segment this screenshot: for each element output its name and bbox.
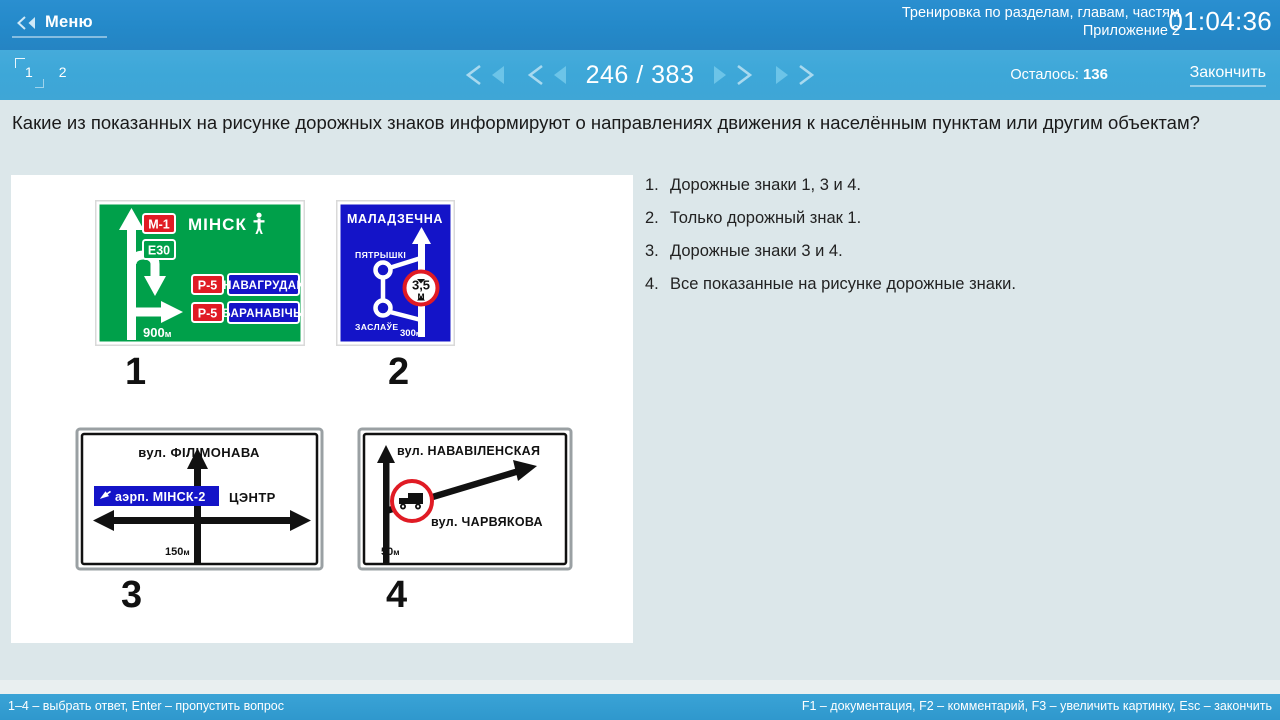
- chevron-left-icon[interactable]: [524, 63, 570, 87]
- session-title-line1: Тренировка по разделам, главам, частям: [902, 4, 1180, 22]
- remaining-label: Осталось:: [1010, 67, 1079, 83]
- svg-text:Е30: Е30: [148, 244, 170, 258]
- remaining-counter: Осталось: 136: [1010, 66, 1108, 83]
- remaining-value: 136: [1083, 66, 1108, 83]
- tab-page-1-label: 1: [25, 64, 33, 80]
- double-chevron-left-icon: [16, 16, 38, 30]
- top-header-bar: Меню Тренировка по разделам, главам, час…: [0, 0, 1280, 50]
- answer-option-3[interactable]: 3. Дорожные знаки 3 и 4.: [645, 242, 1245, 261]
- svg-text:ЦЭНТР: ЦЭНТР: [229, 490, 276, 505]
- answer-option-1-number: 1.: [645, 176, 661, 195]
- tab-page-2-label: 2: [59, 64, 67, 80]
- page-tabs: 1 2: [22, 62, 70, 82]
- sign-4-number: 4: [386, 574, 407, 616]
- height-restriction-icon: 3,5 М: [405, 272, 438, 305]
- answer-option-2[interactable]: 2. Только дорожный знак 1.: [645, 209, 1245, 228]
- answer-option-1[interactable]: 1. Дорожные знаки 1, 3 и 4.: [645, 176, 1245, 195]
- double-chevron-left-icon[interactable]: [462, 63, 508, 87]
- tab-page-1[interactable]: 1: [22, 62, 36, 82]
- status-bar: 1–4 – выбрать ответ, Enter – пропустить …: [0, 694, 1280, 720]
- chevron-right-icon[interactable]: [710, 63, 756, 87]
- svg-text:вул. ЧАРВЯКОВА: вул. ЧАРВЯКОВА: [431, 515, 543, 529]
- timer-clock: 01:04:36: [1168, 6, 1272, 37]
- answer-option-3-text: Дорожные знаки 3 и 4.: [670, 242, 843, 261]
- answer-option-1-text: Дорожные знаки 1, 3 и 4.: [670, 176, 861, 195]
- answer-option-4-text: Все показанные на рисунке дорожные знаки…: [670, 275, 1016, 294]
- road-sign-3: вул. ФІЛІМОНАВА аэрп. МІНСК-2 ЦЭНТР 150м: [77, 429, 322, 569]
- session-title: Тренировка по разделам, главам, частям П…: [902, 4, 1180, 40]
- svg-text:150м: 150м: [165, 546, 190, 558]
- svg-text:М-1: М-1: [148, 218, 170, 232]
- answer-option-3-number: 3.: [645, 242, 661, 261]
- svg-text:вул. ФІЛІМОНАВА: вул. ФІЛІМОНАВА: [138, 445, 260, 460]
- question-text: Какие из показанных на рисунке дорожных …: [12, 110, 1212, 137]
- question-counter: 246 / 383: [586, 61, 695, 90]
- road-sign-1: М-1 Е30 МІНСК Р-5 НАВАГРУДАК: [95, 200, 305, 346]
- status-bar-right-hints: F1 – документация, F2 – комментарий, F3 …: [802, 699, 1272, 713]
- svg-text:50м: 50м: [381, 546, 400, 558]
- svg-text:Р-5: Р-5: [198, 307, 218, 321]
- bottom-divider: [0, 680, 1280, 694]
- answer-option-4[interactable]: 4. Все показанные на рисунке дорожные зн…: [645, 275, 1245, 294]
- sub-header-bar: 1 2 246 / 383: [0, 50, 1280, 100]
- road-sign-2: МАЛАДЗЕЧНА ПЯТРЫШКІ ЗАСЛАЎЕ 3,5: [336, 200, 455, 346]
- svg-text:вул. НАВАВІЛЕНСКАЯ: вул. НАВАВІЛЕНСКАЯ: [397, 444, 540, 458]
- road-sign-4: вул. НАВАВІЛЕНСКАЯ вул. ЧАРВЯКОВА: [359, 429, 571, 569]
- svg-text:ЗАСЛАЎЕ: ЗАСЛАЎЕ: [355, 321, 398, 332]
- status-bar-left-hints: 1–4 – выбрать ответ, Enter – пропустить …: [8, 699, 284, 713]
- sign-1-number: 1: [125, 351, 146, 393]
- question-image-panel[interactable]: М-1 Е30 МІНСК Р-5 НАВАГРУДАК: [11, 175, 633, 643]
- menu-button[interactable]: Меню: [12, 11, 107, 38]
- svg-text:МІНСК: МІНСК: [188, 215, 247, 234]
- sign-3-number: 3: [121, 574, 142, 616]
- session-title-line2: Приложение 2: [902, 22, 1180, 40]
- svg-text:Р-5: Р-5: [198, 279, 218, 293]
- no-trucks-icon: [392, 481, 432, 521]
- tab-page-2[interactable]: 2: [56, 62, 70, 82]
- double-chevron-right-icon[interactable]: [772, 63, 818, 87]
- answer-option-2-number: 2.: [645, 209, 661, 228]
- svg-text:ПЯТРЫШКІ: ПЯТРЫШКІ: [355, 250, 406, 260]
- answer-option-2-text: Только дорожный знак 1.: [670, 209, 861, 228]
- svg-text:МАЛАДЗЕЧНА: МАЛАДЗЕЧНА: [347, 212, 443, 226]
- sign-2-number: 2: [388, 351, 409, 393]
- svg-text:НАВАГРУДАК: НАВАГРУДАК: [223, 280, 304, 292]
- finish-button[interactable]: Закончить: [1190, 64, 1266, 87]
- answer-option-4-number: 4.: [645, 275, 661, 294]
- road-signs-illustration: М-1 Е30 МІНСК Р-5 НАВАГРУДАК: [11, 175, 633, 643]
- menu-button-label: Меню: [45, 13, 93, 32]
- answer-options: 1. Дорожные знаки 1, 3 и 4. 2. Только до…: [645, 176, 1245, 308]
- svg-text:БАРАНАВІЧЫ: БАРАНАВІЧЫ: [222, 308, 305, 320]
- svg-text:аэрп. МІНСК-2: аэрп. МІНСК-2: [115, 490, 206, 504]
- app-screen: Меню Тренировка по разделам, главам, час…: [0, 0, 1280, 720]
